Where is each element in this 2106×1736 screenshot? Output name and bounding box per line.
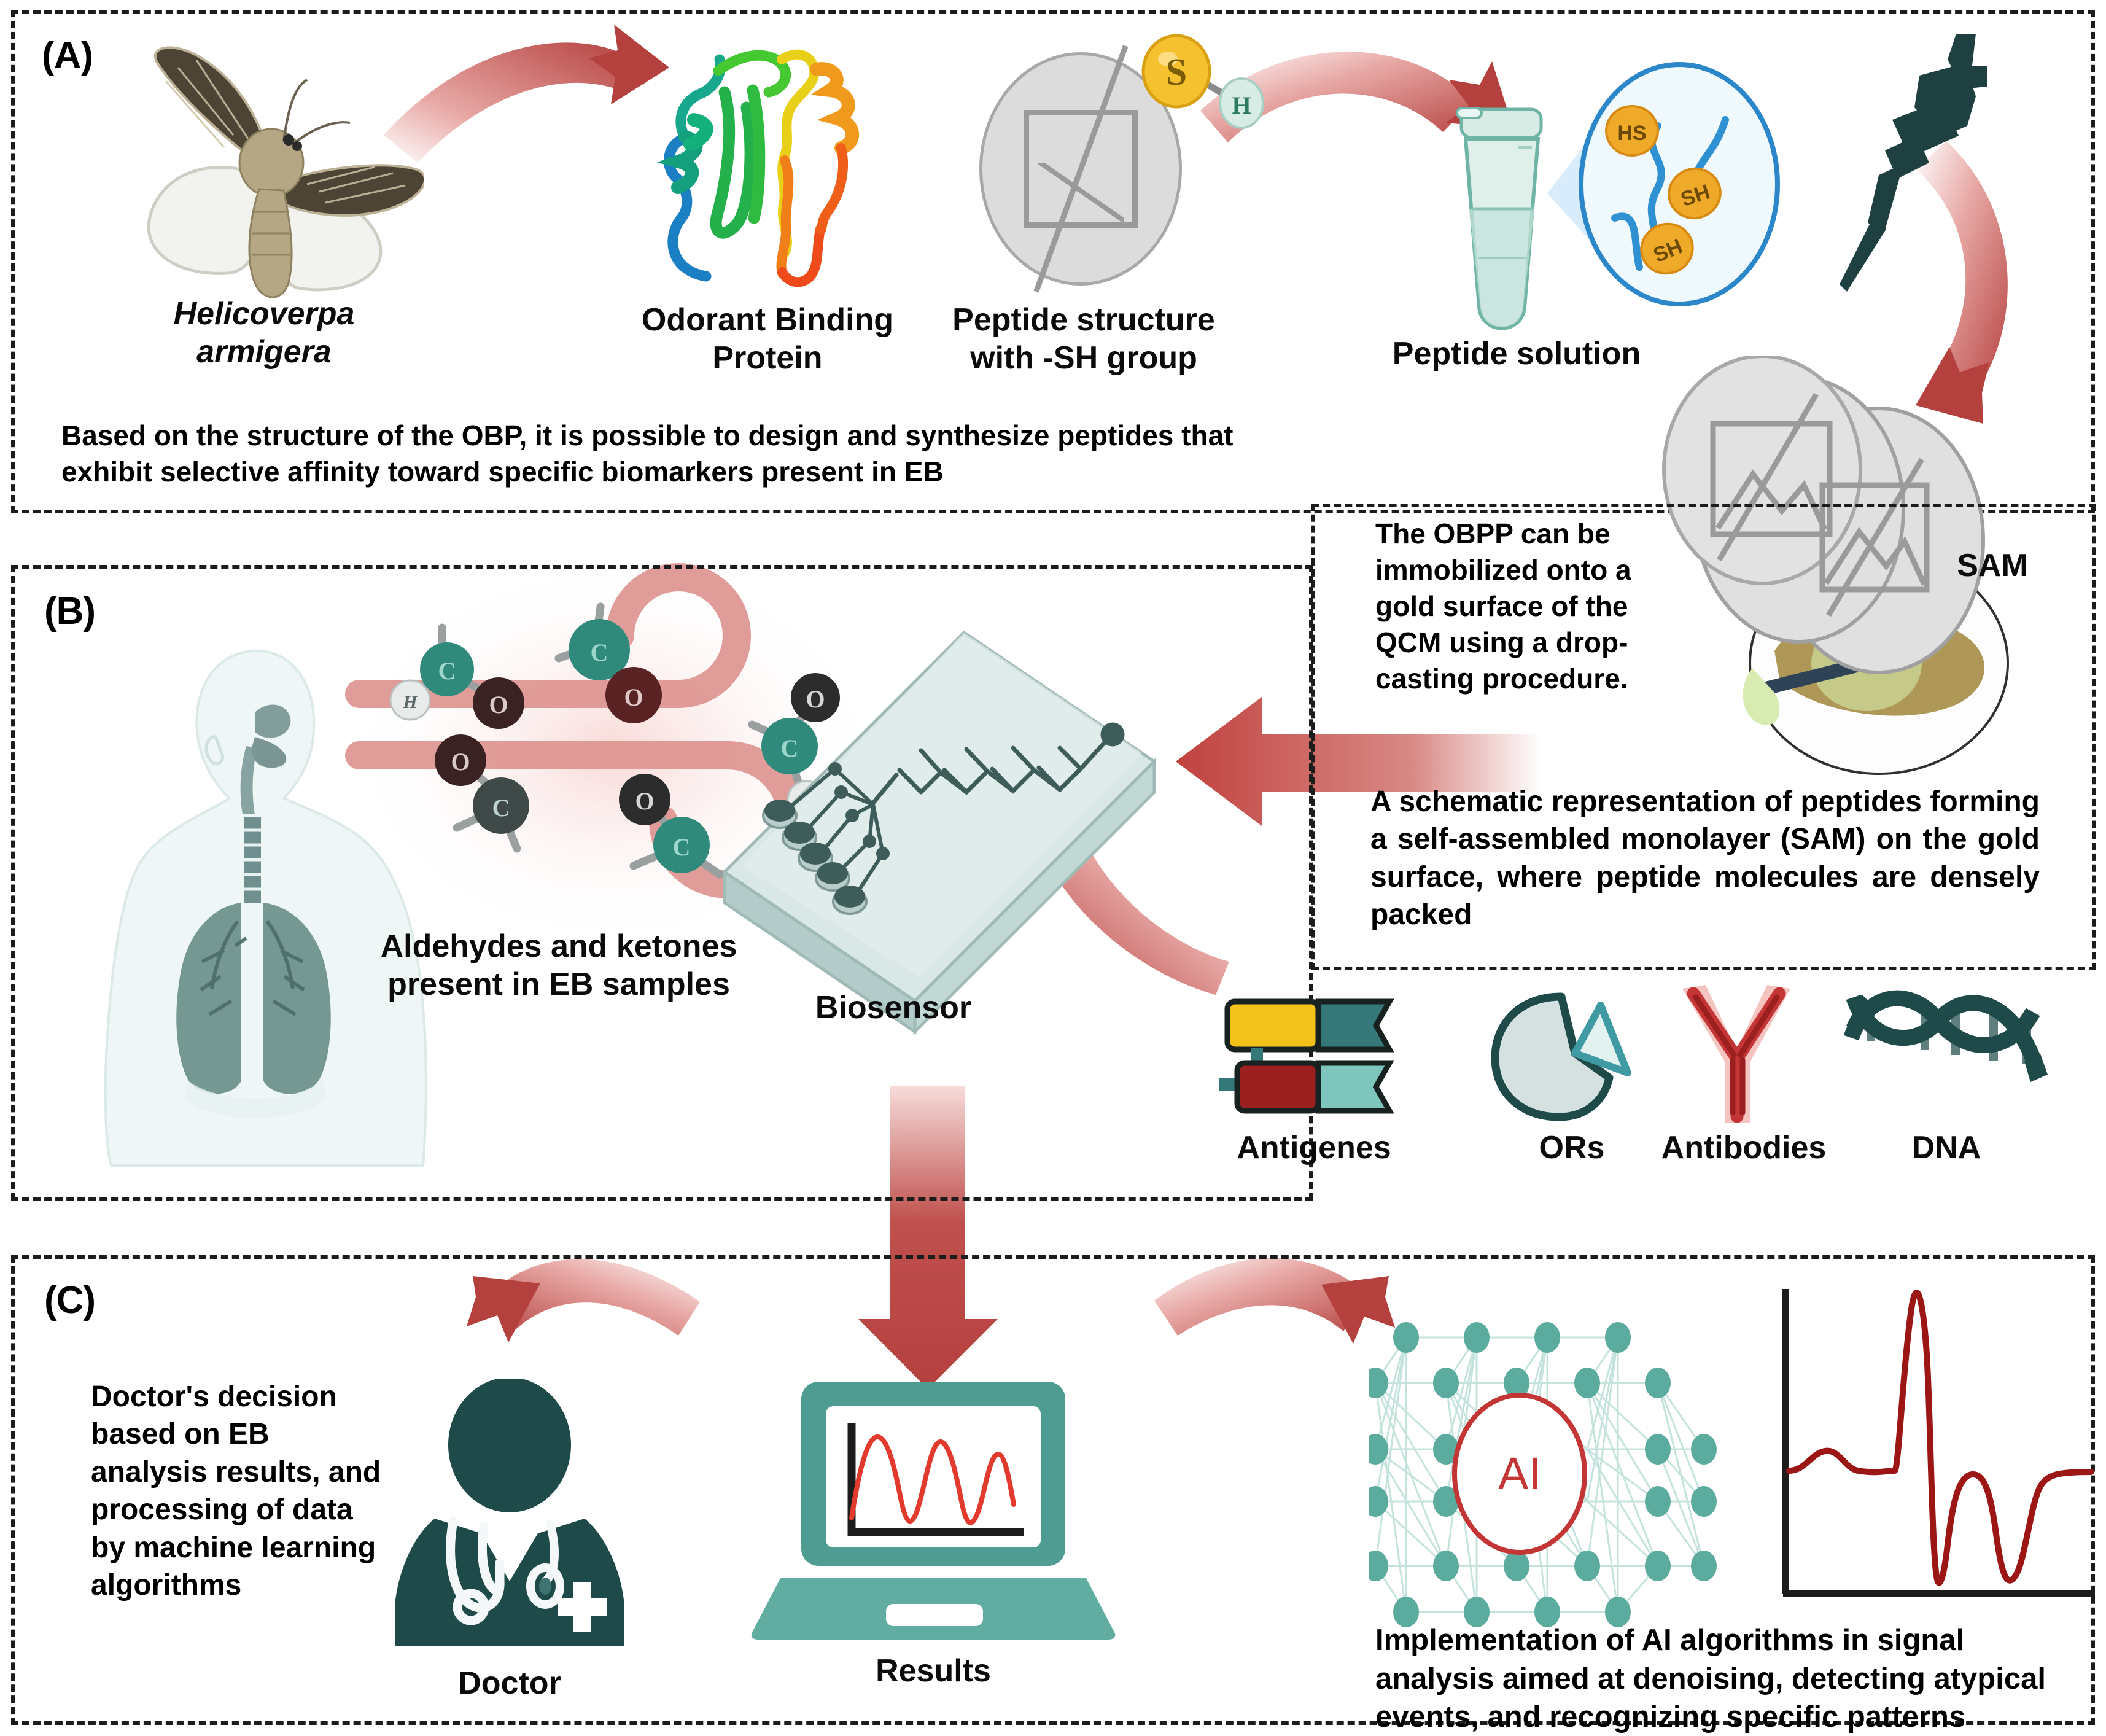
svg-text:O: O <box>489 691 508 718</box>
sh-group-icon: S H <box>1136 25 1296 147</box>
obp-label-line1: Odorant Binding <box>602 301 933 339</box>
svg-text:S: S <box>1166 52 1187 93</box>
bioreceptor-dna <box>1833 983 2078 1124</box>
note-sam-text: A schematic representation of peptides f… <box>1370 783 2040 934</box>
biosensor-chip <box>712 608 1191 1038</box>
biosensor-label: Biosensor <box>755 989 1032 1027</box>
moth-illustration <box>104 31 424 301</box>
moth-label-line1: Helicoverpa <box>80 295 448 333</box>
aldehydes-line1: Aldehydes and ketones <box>368 927 749 965</box>
peptide-structure-line1: Peptide structure <box>924 301 1243 339</box>
svg-text:H: H <box>402 692 418 712</box>
bioreceptor-dna-label: DNA <box>1860 1129 2032 1167</box>
panel-a-caption: Based on the structure of the OBP, it is… <box>61 418 1320 490</box>
peptide-zoom-bubble: HS SH SH <box>1541 52 1811 310</box>
obp-label: Odorant Binding Protein <box>602 301 933 378</box>
bioreceptor-antigen-label: Antigenes <box>1197 1129 1431 1167</box>
svg-text:HS: HS <box>1617 122 1646 145</box>
neural-network-diagram: AI <box>1369 1283 1762 1627</box>
doctor-icon <box>381 1379 639 1655</box>
svg-text:C: C <box>673 833 691 861</box>
moth-label: Helicoverpa armigera <box>80 295 448 372</box>
panel-a-tag: (A) <box>42 34 93 77</box>
laptop-results-icon <box>746 1376 1121 1640</box>
bioreceptor-antibody-label: Antibodies <box>1627 1129 1860 1167</box>
aldehydes-label: Aldehydes and ketones present in EB samp… <box>368 927 749 1004</box>
svg-text:O: O <box>624 683 643 711</box>
ai-caption: Implementation of AI algorithms in signa… <box>1375 1621 2069 1736</box>
obp-label-line2: Protein <box>602 339 933 377</box>
bioreceptor-antibody <box>1658 983 1817 1127</box>
svg-text:C: C <box>591 639 608 666</box>
pipette-icon <box>1811 28 2014 304</box>
bioreceptor-antigen <box>1219 992 1403 1121</box>
note-obpp-text: The OBPP can be immobilized onto a gold … <box>1375 516 1670 696</box>
bioreceptor-olfactory-receptor <box>1483 986 1661 1127</box>
signal-analysis-plot <box>1781 1286 2100 1612</box>
panel-c-tag: (C) <box>44 1279 95 1322</box>
svg-text:H: H <box>1232 91 1251 119</box>
obp-ribbon-structure <box>632 34 903 292</box>
ai-text: AI <box>1498 1448 1541 1499</box>
svg-text:C: C <box>438 657 456 685</box>
peptide-structure-line2: with -SH group <box>924 339 1243 377</box>
svg-text:C: C <box>492 794 510 822</box>
svg-text:O: O <box>635 787 654 815</box>
aldehydes-line2: present in EB samples <box>368 965 749 1003</box>
moth-label-line2: armigera <box>80 333 448 371</box>
doctor-decision-text: Doctor's decision based on EB analysis r… <box>91 1378 392 1605</box>
doctor-label: Doctor <box>381 1664 639 1702</box>
results-label: Results <box>746 1652 1121 1690</box>
peptide-structure-label: Peptide structure with -SH group <box>924 301 1243 378</box>
svg-text:O: O <box>451 748 470 776</box>
